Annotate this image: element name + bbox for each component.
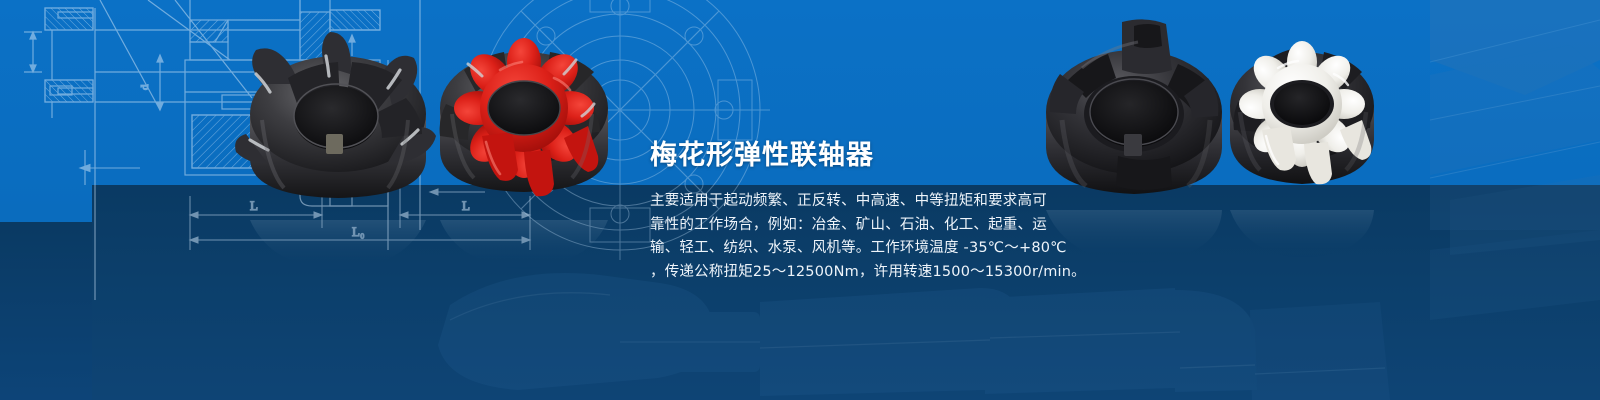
banner-text-block: 梅花形弹性联轴器 主要适用于起动频繁、正反转、中高速、中等扭矩和要求高可 靠性的…: [650, 138, 1070, 284]
product-reflection-right: [1022, 210, 1382, 300]
coupling-hub-black-right-group: [1046, 19, 1222, 194]
product-reflection-left: [232, 220, 622, 315]
product-photo-left-coupling-red: [232, 8, 622, 223]
product-description: 主要适用于起动频繁、正反转、中高速、中等扭矩和要求高可 靠性的工作场合，例如：冶…: [650, 190, 1070, 284]
product-photo-right-coupling-white: [1022, 8, 1382, 213]
description-line-1: 主要适用于起动频繁、正反转、中高速、中等扭矩和要求高可: [650, 190, 1070, 214]
coupling-hub-with-red-spider: [440, 38, 608, 196]
coupling-hub-black-left: [235, 32, 436, 198]
description-line-3: 输、轻工、纺织、水泵、风机等。工作环境温度 -35℃～+80℃: [650, 237, 1070, 261]
blueprint-label-d: d: [139, 84, 151, 90]
coupling-hub-with-white-spider: [1230, 41, 1374, 184]
description-line-2: 靠性的工作场合，例如：冶金、矿山、石油、化工、起重、运: [650, 214, 1070, 238]
page-title: 梅花形弹性联轴器: [650, 138, 1070, 174]
description-line-4: ，传递公称扭矩25～12500Nm，许用转速1500～15300r/min。: [650, 261, 1070, 285]
product-banner: d D: [0, 0, 1600, 400]
